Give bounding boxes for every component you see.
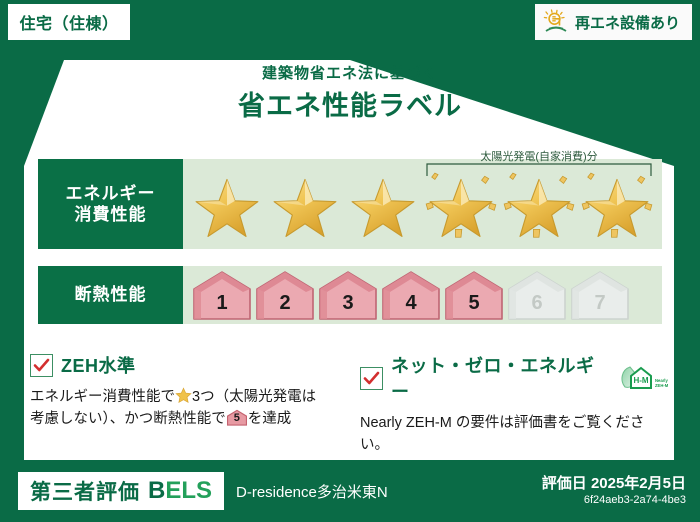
insulation-level-achieved: 3 [317, 269, 379, 321]
building-name: D-residence多治米東N [236, 481, 388, 502]
house-badge-number: 5 [226, 409, 248, 426]
criteria-zeh-body: エネルギー消費性能で3つ（太陽光発電は考慮しない）、かつ断熱性能で5を達成 [30, 386, 330, 431]
label-subtitle: 建築物省エネ法に基づく [0, 62, 700, 83]
insulation-performance-row: 断熱性能 1234567 [38, 266, 662, 324]
insulation-level-number: 4 [380, 292, 442, 315]
check-icon [33, 357, 50, 374]
criteria-zeh-title: ZEH水準 [61, 352, 136, 378]
energy-performance-key: エネルギー 消費性能 [38, 159, 183, 249]
insulation-level-number: 6 [506, 292, 568, 315]
criteria-nze-body: Nearly ZEH-M の要件は評価書をご覧ください。 [360, 412, 670, 457]
zeh-m-logo-sub2: ZEH-M [655, 383, 669, 388]
criteria-zeh-level: ZEH水準 エネルギー消費性能で3つ（太陽光発電は考慮しない）、かつ断熱性能で5… [30, 352, 330, 431]
energy-key-line2: 消費性能 [75, 204, 147, 225]
check-icon [363, 370, 380, 387]
insulation-level-achieved: 1 [191, 269, 253, 321]
zeh-m-logo: H-M Nearly ZEH-M [618, 365, 670, 391]
evaluation-id: 6f24aeb3-2a74-4be3 [584, 494, 686, 506]
category-chip: 住宅（住棟） [8, 4, 130, 40]
solar-annotation-bracket [426, 163, 652, 177]
insulation-level-number: 1 [191, 292, 253, 315]
insulation-level-number: 3 [317, 292, 379, 315]
insulation-level-number: 2 [254, 292, 316, 315]
criteria-net-zero-energy: ネット・ゼロ・エネルギー H-M Nearly ZEH-M [360, 352, 670, 457]
insulation-level-inactive: 7 [569, 269, 631, 321]
star-icon [175, 387, 192, 404]
bels-wordmark: BELS [148, 477, 212, 505]
insulation-level-achieved: 5 [443, 269, 505, 321]
renewable-energy-badge-label: 再エネ設備あり [575, 12, 680, 33]
zeh-m-logo-main: H-M [633, 376, 648, 385]
evaluation-date-label: 評価日 [542, 475, 587, 492]
bels-letters-els: ELS [165, 477, 212, 504]
evaluation-date-value: 2025年2月5日 [591, 475, 686, 492]
house-badge-icon: 5 [226, 409, 248, 426]
criteria-zeh-header: ZEH水準 [30, 352, 330, 378]
insulation-level-achieved: 2 [254, 269, 316, 321]
bels-japanese-label: 第三者評価 [30, 476, 140, 506]
bels-plate: 第三者評価 BELS [18, 472, 224, 510]
insulation-level-scale: 1234567 [183, 269, 631, 321]
insulation-level-achieved: 4 [380, 269, 442, 321]
checkbox-zeh[interactable] [30, 354, 53, 377]
renewable-energy-badge: 再エネ設備あり [535, 4, 692, 40]
footer-bar: 第三者評価 BELS D-residence多治米東N 評価日 2025年2月5… [0, 462, 700, 522]
solar-annotation: 太陽光発電(自家消費)分 [414, 148, 664, 182]
insulation-performance-key: 断熱性能 [38, 266, 183, 324]
insulation-level-number: 7 [569, 292, 631, 315]
solar-sun-icon [543, 9, 569, 35]
criteria-nze-title: ネット・ゼロ・エネルギー [391, 352, 606, 404]
label-title: 省エネ性能ラベル [0, 84, 700, 123]
energy-performance-label: 住宅（住棟） 再エネ設備あり 建築物省エネ法に基 [0, 0, 700, 522]
insulation-level-number: 5 [443, 292, 505, 315]
criteria-zeh-text-3: を達成 [248, 411, 292, 427]
evaluation-date: 評価日 2025年2月5日 [542, 472, 686, 493]
star-icon [345, 166, 421, 242]
checkbox-net-zero-energy[interactable] [360, 367, 383, 390]
bels-letter-b: B [148, 477, 165, 504]
criteria-zeh-text-1: エネルギー消費性能で [30, 389, 175, 405]
insulation-key-label: 断熱性能 [75, 284, 147, 305]
star-icon [267, 166, 343, 242]
insulation-performance-value: 1234567 [183, 266, 662, 324]
criteria-nze-header: ネット・ゼロ・エネルギー H-M Nearly ZEH-M [360, 352, 670, 404]
energy-key-line1: エネルギー [66, 183, 156, 204]
insulation-level-inactive: 6 [506, 269, 568, 321]
category-chip-label: 住宅（住棟） [19, 10, 118, 34]
star-icon [189, 166, 265, 242]
solar-annotation-label: 太陽光発電(自家消費)分 [414, 148, 664, 164]
